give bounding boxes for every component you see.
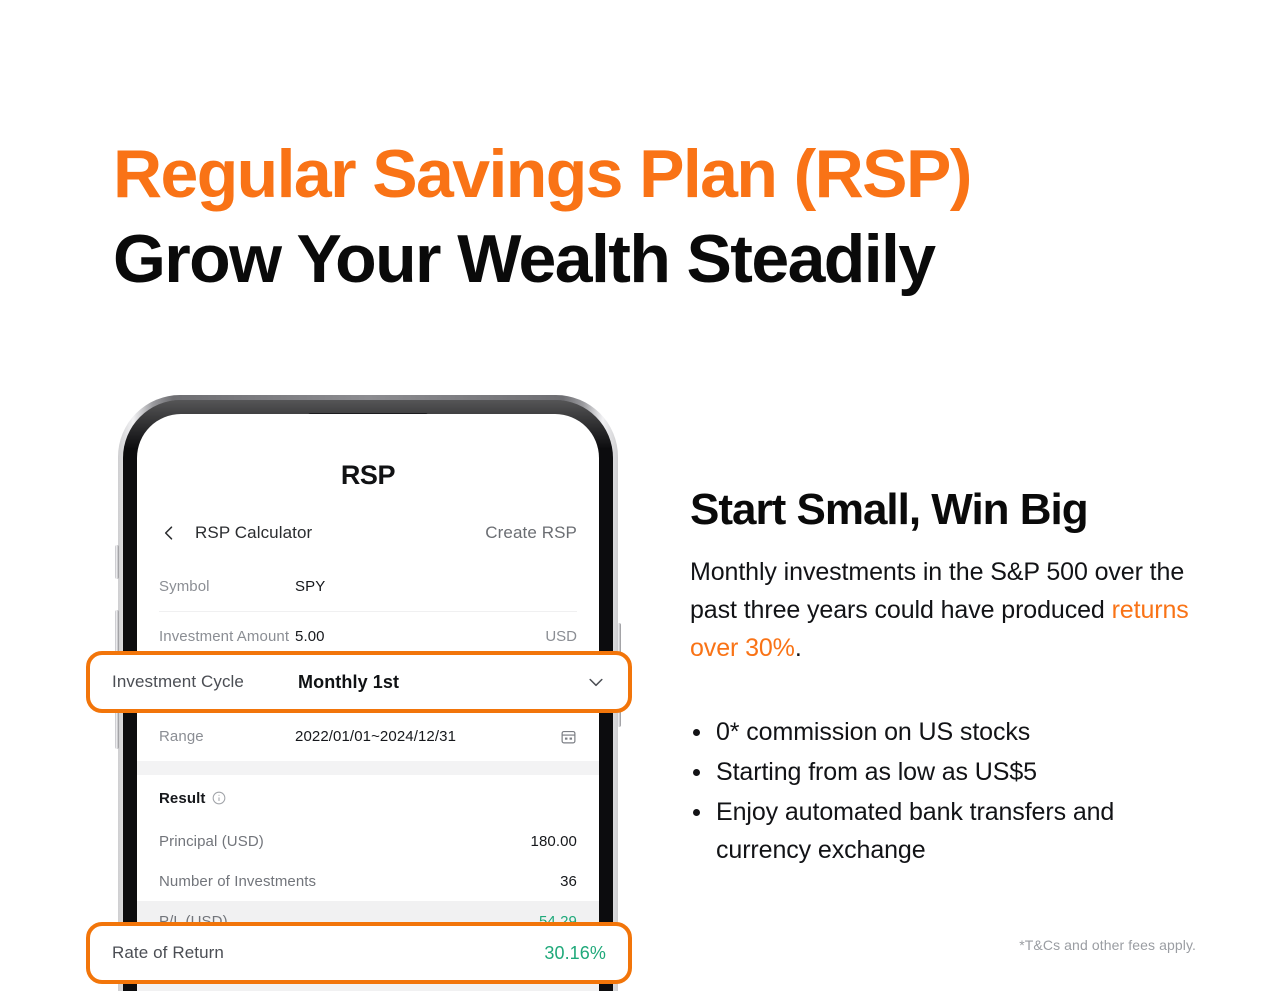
chevron-left-icon[interactable] xyxy=(159,523,179,543)
silent-switch-button[interactable] xyxy=(115,545,119,579)
form-row-range[interactable]: Range 2022/01/01~2024/12/31 xyxy=(137,711,599,761)
investment-amount-currency: USD xyxy=(545,628,577,645)
investment-cycle-callout[interactable]: Investment Cycle Monthly 1st xyxy=(86,651,632,713)
nav-bar: RSP Calculator Create RSP xyxy=(137,505,599,561)
body-copy-part1: Monthly investments in the S&P 500 over … xyxy=(690,558,1184,624)
nav-title: RSP Calculator xyxy=(195,523,312,543)
list-item: Enjoy automated bank transfers and curre… xyxy=(690,793,1210,869)
symbol-label: Symbol xyxy=(159,578,295,595)
form-row-symbol[interactable]: Symbol SPY xyxy=(137,561,599,611)
range-value: 2022/01/01~2024/12/31 xyxy=(295,728,456,745)
investment-cycle-value: Monthly 1st xyxy=(298,672,399,693)
sub-heading: Start Small, Win Big xyxy=(690,487,1210,533)
number-of-investments-label: Number of Investments xyxy=(159,873,316,890)
headline-primary: Regular Savings Plan (RSP) xyxy=(113,142,1113,207)
result-heading: Result xyxy=(137,775,599,821)
symbol-value: SPY xyxy=(295,578,325,595)
investment-amount-value: 5.00 xyxy=(295,628,325,645)
principal-value: 180.00 xyxy=(531,833,577,850)
rate-of-return-label: Rate of Return xyxy=(112,943,224,963)
page-title: Regular Savings Plan (RSP) Grow Your Wea… xyxy=(113,142,1113,293)
body-copy: Monthly investments in the S&P 500 over … xyxy=(690,553,1210,667)
create-rsp-button[interactable]: Create RSP xyxy=(485,523,577,543)
investment-amount-label: Investment Amount xyxy=(159,628,295,645)
rate-of-return-callout[interactable]: Rate of Return 30.16% xyxy=(86,922,632,984)
investment-cycle-label: Investment Cycle xyxy=(112,672,298,692)
list-item: 0* commission on US stocks xyxy=(690,713,1210,751)
body-copy-part2: . xyxy=(795,634,802,662)
number-of-investments-value: 36 xyxy=(560,873,577,890)
headline-secondary: Grow Your Wealth Steadily xyxy=(113,225,1113,293)
info-circle-icon[interactable] xyxy=(212,791,226,805)
feature-bullet-list: 0* commission on US stocks Starting from… xyxy=(690,713,1210,869)
principal-label: Principal (USD) xyxy=(159,833,264,850)
app-title: RSP xyxy=(137,460,599,491)
result-heading-label: Result xyxy=(159,790,205,807)
result-row-number-of-investments: Number of Investments 36 xyxy=(137,861,599,901)
right-content-column: Start Small, Win Big Monthly investments… xyxy=(690,487,1210,871)
range-label: Range xyxy=(159,728,295,745)
footnote-disclaimer: *T&Cs and other fees apply. xyxy=(1019,937,1196,953)
result-row-principal: Principal (USD) 180.00 xyxy=(137,821,599,861)
promo-page: Regular Savings Plan (RSP) Grow Your Wea… xyxy=(0,0,1280,991)
rate-of-return-value: 30.16% xyxy=(544,943,606,964)
calendar-icon[interactable] xyxy=(560,728,577,745)
chevron-down-icon[interactable] xyxy=(586,672,606,692)
list-item: Starting from as low as US$5 xyxy=(690,753,1210,791)
section-divider xyxy=(137,761,599,775)
